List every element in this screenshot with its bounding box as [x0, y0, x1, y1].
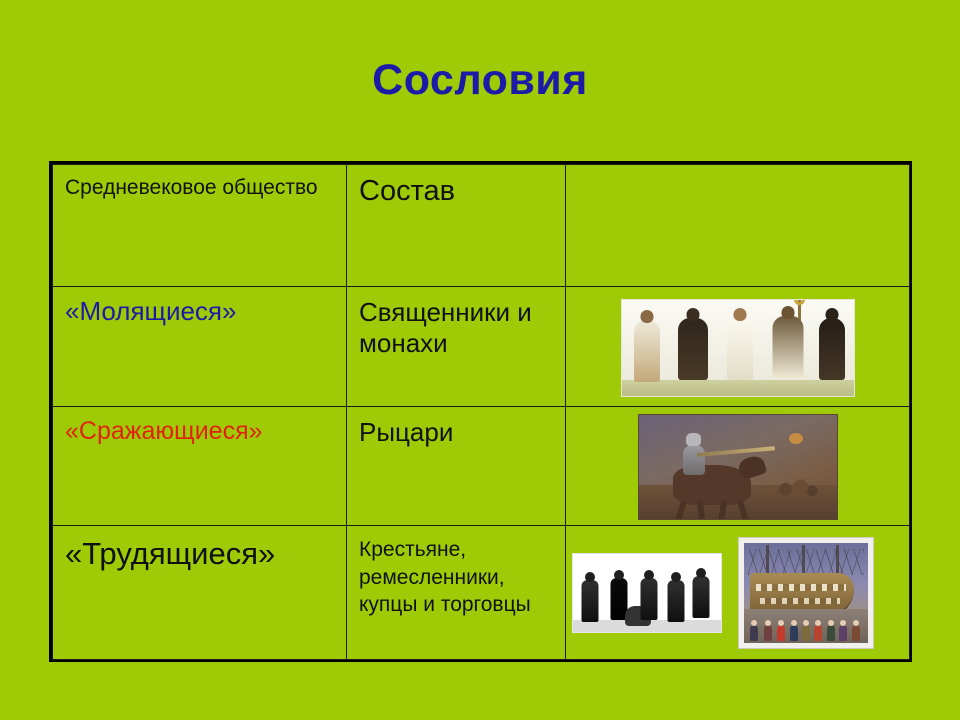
cell-image-praying [566, 287, 910, 407]
clergy-figure-3 [722, 308, 758, 388]
knight-sun [789, 433, 803, 444]
estate-label-praying: «Молящиеся» [65, 297, 334, 327]
page-title: Сословия [0, 57, 960, 104]
ship-mast-1 [766, 545, 769, 577]
peasants-engraving [572, 553, 722, 633]
composition-label-fighting: Рыцари [359, 417, 553, 448]
ship-crowd [744, 611, 868, 641]
cell-composition-fighting: Рыцари [347, 407, 566, 526]
peasant-figure-4 [665, 572, 687, 624]
slide-canvas: Сословия Средневековое общество Состав [0, 0, 960, 720]
estates-table: Средневековое общество Состав «Молящиеся… [52, 164, 910, 660]
estates-table-wrapper: Средневековое общество Состав «Молящиеся… [49, 161, 912, 662]
knight-distant-figures [771, 475, 819, 499]
table-row-header: Средневековое общество Состав [53, 165, 910, 287]
cell-estate-praying: «Молящиеся» [53, 287, 347, 407]
cell-composition-working: Крестьяне, ремесленники, купцы и торговц… [347, 526, 566, 660]
cell-composition-praying: Священники и монахи [347, 287, 566, 407]
clergy-figure-5 [814, 308, 850, 388]
clergy-figure-1 [630, 310, 664, 388]
cell-composition-header: Состав [347, 165, 566, 287]
clergy-figure-4 [768, 306, 808, 388]
table-row-praying: «Молящиеся» Священники и монахи [53, 287, 910, 407]
table-row-working: «Трудящиеся» Крестьяне, ремесленники, ку… [53, 526, 910, 660]
clergy-figure-2 [674, 308, 712, 388]
peasant-figure-1 [579, 572, 601, 624]
peasant-figure-5 [689, 568, 713, 624]
cell-image-fighting [566, 407, 910, 526]
merchant-ship-harbour-print [738, 537, 874, 649]
mounted-knight-painting [638, 414, 838, 520]
ship-mast-2 [802, 545, 805, 577]
ship-mast-3 [836, 545, 839, 577]
cell-image-working [566, 526, 910, 660]
clergy-and-monks-engraving [621, 299, 855, 397]
estate-header-label: Средневековое общество [65, 175, 334, 201]
estate-label-working: «Трудящиеся» [65, 536, 334, 572]
table-row-fighting: «Сражающиеся» Рыцари [53, 407, 910, 526]
composition-label-working: Крестьяне, ремесленники, купцы и торговц… [359, 536, 553, 619]
composition-header-label: Состав [359, 175, 553, 208]
cell-image-header [566, 165, 910, 287]
knight-lance [696, 446, 774, 457]
knight-rider [683, 445, 705, 475]
peasant-figure-3 [637, 570, 661, 624]
ship-scene [744, 543, 868, 643]
working-images-group [572, 530, 903, 655]
estate-label-fighting: «Сражающиеся» [65, 417, 334, 446]
cell-estate-working: «Трудящиеся» [53, 526, 347, 660]
composition-label-praying: Священники и монахи [359, 297, 553, 359]
cell-estate-fighting: «Сражающиеся» [53, 407, 347, 526]
cell-estate-header: Средневековое общество [53, 165, 347, 287]
